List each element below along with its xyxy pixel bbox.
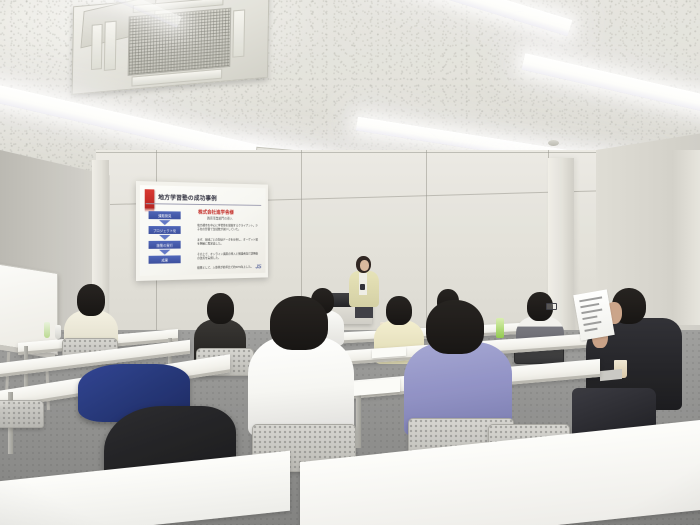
projection-screen: 地方学習塾の成功事例 課題発見 プロジェクト化 施策の実行 成果 株式会社進学舎… — [136, 181, 268, 281]
presenter-face — [360, 260, 369, 271]
attendee-head — [77, 284, 105, 316]
smoke-detector-icon — [548, 140, 559, 146]
presenter-badge — [360, 284, 365, 290]
ac-vane — [232, 10, 245, 58]
attendee-6 — [404, 300, 512, 430]
attendee-head — [426, 300, 484, 354]
ac-vane — [90, 24, 102, 70]
flow-arrow-icon — [159, 220, 170, 225]
flow-step: 課題発見 — [149, 211, 181, 219]
slide-paragraph: まず、地域ごとの生徒データを分析し、ターゲット層を明確に再定義した。 — [197, 238, 260, 246]
flow-step: 成果 — [149, 255, 181, 263]
flow-arrow-icon — [159, 235, 170, 240]
flow-step: プロジェクト化 — [149, 226, 181, 234]
flow-arrow-icon — [159, 250, 170, 255]
presentation-slide: 地方学習塾の成功事例 課題発見 プロジェクト化 施策の実行 成果 株式会社進学舎… — [140, 185, 266, 276]
attendee-3 — [248, 296, 354, 432]
slide-flowchart: 課題発見 プロジェクト化 施策の実行 成果 — [149, 211, 187, 265]
slide-logo: JS — [255, 265, 261, 271]
slide-paragraph: 地方都市を中心に学習塾を展開するクライアント。少子化の影響で生徒数が減少していた… — [197, 223, 260, 231]
slide-section-subheading: 教育事業部門の導入 — [207, 216, 232, 221]
attendee-head — [207, 293, 234, 324]
bottle — [55, 325, 61, 339]
flow-step: 施策の実行 — [149, 241, 181, 249]
slide-banner-graphic — [145, 189, 155, 208]
attendee-head — [270, 296, 328, 350]
seminar-room-photo: 地方学習塾の成功事例 課題発見 プロジェクト化 施策の実行 成果 株式会社進学舎… — [0, 0, 700, 525]
glasses-icon — [546, 303, 557, 310]
attendee-torso — [248, 336, 354, 436]
bottle — [44, 322, 50, 338]
chair — [0, 400, 44, 428]
slide-divider — [146, 203, 262, 206]
slide-paragraph: その上で、オンライン講座の導入と保護者向け説明会の改善を実施した。 — [197, 251, 260, 260]
slide-paragraph: 結果として、入塾率が前年比で約30%向上した。 — [197, 265, 260, 270]
slide-title: 地方学習塾の成功事例 — [158, 192, 217, 202]
ac-vane — [104, 21, 117, 71]
